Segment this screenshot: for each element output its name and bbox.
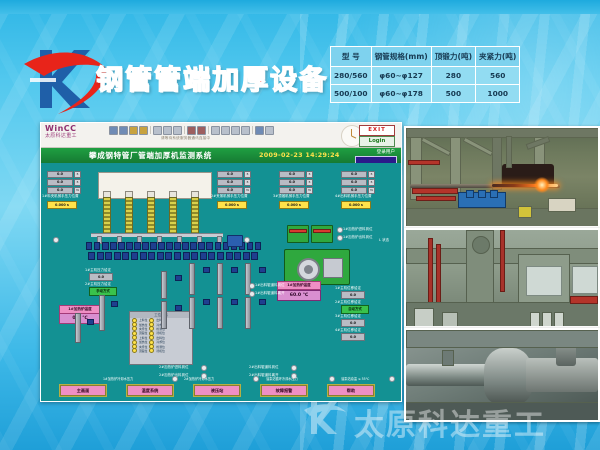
wincc-logo-subtext: 太原科达重工	[45, 133, 103, 140]
hmi-screenshot-panel: WinCC 太原科达重工 请等待系统服务器通讯连接中 EXIT	[40, 122, 402, 402]
cell-model: 280/560	[331, 67, 372, 85]
roller	[174, 252, 181, 260]
valve-indicator	[231, 267, 238, 273]
gauge-row: 0.0 B	[47, 171, 81, 178]
status-lamp	[132, 348, 137, 353]
gauge-group: 0.0 B 0.0 B 0.0 Hz	[279, 171, 313, 195]
gauge-row: 0.0 B	[341, 179, 375, 186]
manifold-block	[287, 225, 309, 243]
status-lamp	[291, 365, 297, 371]
print-icon[interactable]	[129, 126, 138, 135]
right-status-value: 0.0	[341, 333, 365, 341]
gauge-value: 0.0	[217, 171, 243, 178]
hydraulic-cylinder	[189, 297, 195, 329]
gauge-value: 0.0	[279, 171, 305, 178]
feeder-lamp	[53, 237, 59, 243]
lamp-label: 2#加热炉进料到位	[159, 364, 189, 369]
hydraulic-cylinder	[217, 297, 223, 329]
valve-indicator	[111, 301, 118, 307]
valve-indicator	[259, 267, 266, 273]
roller	[191, 252, 198, 260]
hydraulic-cylinder	[75, 313, 81, 343]
station-label: 检测位	[156, 345, 164, 349]
nav-note-lamp	[329, 376, 335, 382]
roller	[140, 252, 147, 260]
col-header-model: 型 号	[331, 47, 372, 67]
heater-column	[125, 197, 133, 237]
gauge-row: 0.0 B	[47, 179, 81, 186]
gauge-timer: 0.000 s	[47, 201, 77, 209]
nav-note-lamp	[253, 376, 259, 382]
valve-indicator	[259, 299, 266, 305]
roller	[208, 252, 215, 260]
roller	[165, 252, 172, 260]
roller	[134, 242, 140, 250]
gauge-value: 0.0	[341, 179, 367, 186]
gauge-unit: B	[368, 179, 375, 186]
nav-note: 1#加热炉冷却水压力	[103, 376, 133, 381]
station-label: 夹紧位	[139, 327, 147, 331]
roller	[200, 252, 207, 260]
cell-model: 500/100	[331, 85, 372, 103]
station-label: 冷却位	[156, 340, 164, 344]
watermark-text: 太原科达重工	[354, 400, 546, 444]
station-label: 夹紧位	[139, 345, 147, 349]
paste-icon[interactable]	[173, 126, 182, 135]
roller	[142, 242, 148, 250]
gauge-value: 0.0	[279, 179, 305, 186]
gauge-caption: 3#顶锻机械手压力位置	[273, 193, 310, 198]
nav-note-lamp	[172, 376, 178, 382]
manifold-line	[289, 229, 307, 233]
wincc-logo: WinCC 太原科达重工	[45, 124, 103, 140]
cell-pipe-size: φ60~φ127	[371, 67, 431, 85]
table-header-row: 型 号 钢管规格(mm) 顶锻力(吨) 夹紧力(吨)	[331, 47, 520, 67]
station-row: 顶锻位待机位	[130, 349, 192, 353]
station-label: 上料位	[139, 318, 147, 322]
status-label: L 状态	[379, 237, 389, 242]
roller	[217, 252, 224, 260]
roller	[110, 242, 116, 250]
hmi-user-label: 登录用户	[377, 149, 395, 155]
gauge-caption: 1#料夹机械手压力位置	[42, 193, 79, 198]
roller	[226, 252, 233, 260]
roller	[182, 242, 188, 250]
roller	[251, 252, 258, 260]
col-header-upset-force: 顶锻力(吨)	[431, 47, 475, 67]
station-label: 待机位	[156, 349, 164, 353]
valve-indicator	[175, 305, 182, 311]
roller	[105, 252, 112, 260]
wincc-logo-text: WinCC	[45, 124, 103, 133]
copy-icon[interactable]	[163, 126, 172, 135]
cell-upset-force: 280	[431, 67, 475, 85]
gauge-unit: B	[368, 171, 375, 178]
gauge-row: 0.0 B	[279, 171, 313, 178]
zoom-in-icon[interactable]	[211, 126, 220, 135]
roller	[131, 252, 138, 260]
roller	[206, 242, 212, 250]
user-icon[interactable]	[197, 126, 206, 135]
roller	[150, 242, 156, 250]
manifold-line	[313, 229, 331, 233]
table-row: 280/560 φ60~φ127 280 560	[331, 67, 520, 85]
roller	[114, 252, 121, 260]
roller	[88, 252, 95, 260]
hmi-title-bar: 攀成钢特管厂管端加厚机监测系统 2009-02-23 14:29:24 登录用户	[41, 148, 401, 163]
heater-column	[147, 197, 155, 237]
gauge-caption: 4#出料机械手压力位置	[335, 193, 372, 198]
photo-hot-pipe-rolling-line	[404, 126, 600, 228]
roller	[126, 242, 132, 250]
page-title: 钢管管端加厚设备	[96, 58, 328, 97]
nav-note-lamp	[389, 376, 395, 382]
hmi-toolbar[interactable]	[109, 125, 299, 135]
gauge-value: 0.0	[47, 179, 73, 186]
gauge-group: 0.0 B 0.0 B 0.0 Hz	[47, 171, 81, 195]
gauge-value: 0.0	[47, 171, 73, 178]
roller	[215, 242, 221, 250]
watermark-logo-icon	[302, 398, 348, 438]
manifold-block	[311, 225, 333, 243]
gauge-row: 0.0 B	[341, 171, 375, 178]
heater-column	[169, 197, 177, 237]
roller	[190, 242, 196, 250]
lamp-label: 1#加热炉进料到位	[343, 226, 373, 231]
photo-workshop-hydraulic-station	[404, 228, 600, 328]
nav-note: 油泵站油温 ≤ 55℃	[341, 376, 369, 381]
roller	[166, 242, 172, 250]
hydraulic-cylinder	[161, 301, 167, 329]
valve-indicator	[175, 275, 182, 281]
lamp-label: 1#加热炉出料到位	[343, 234, 373, 239]
valve-indicator	[203, 267, 210, 273]
gauge-row: 0.0 B	[217, 171, 251, 178]
roller	[97, 252, 104, 260]
gauge-timer: 0.000 s	[341, 201, 371, 209]
background-top-band	[0, 0, 600, 14]
layers-icon[interactable]	[241, 126, 250, 135]
station-label: 加热位	[139, 323, 147, 327]
roller-row	[88, 252, 261, 260]
left-status-label: 2#主机压力给定	[85, 281, 111, 286]
right-status-label: 3#主机位移给定	[335, 313, 361, 318]
roller	[118, 242, 124, 250]
roller	[102, 242, 108, 250]
grid-icon[interactable]	[231, 126, 240, 135]
hydraulic-cylinder	[217, 263, 223, 295]
coil-ring	[297, 258, 320, 281]
gauge-unit: B	[306, 179, 313, 186]
station-label: 顶锻位	[139, 331, 147, 335]
roller	[174, 242, 180, 250]
hmi-datetime: 2009-02-23 14:29:24	[259, 151, 340, 159]
right-status-label: 4#主机位移给定	[335, 327, 361, 332]
gauge-timer: 0.000 s	[279, 201, 309, 209]
station-label: 上料位	[139, 336, 147, 340]
toolbar-separator	[252, 126, 253, 134]
hmi-window-chrome: WinCC 太原科达重工 请等待系统服务器通讯连接中 EXIT	[41, 123, 401, 148]
valve-indicator	[203, 299, 210, 305]
cell-clamp-force: 560	[476, 67, 520, 85]
gauge-group: 0.0 B 0.0 B 0.0 Hz	[341, 171, 375, 195]
cell-upset-force: 500	[431, 85, 475, 103]
right-status-value: 0.0	[341, 319, 365, 327]
drive-lamp	[244, 237, 250, 243]
open-icon[interactable]	[109, 126, 118, 135]
station-label: 出料位	[156, 336, 164, 340]
gauge-caption: 2#夹紧机械手压力位置	[211, 193, 248, 198]
station-label: 待机位	[156, 331, 164, 335]
cut-icon[interactable]	[153, 126, 162, 135]
nav-button-main[interactable]: 主画面	[59, 384, 107, 397]
gauge-unit: B	[306, 171, 313, 178]
heater-column	[103, 197, 111, 237]
roller	[243, 252, 250, 260]
roller	[122, 252, 129, 260]
right-status-label: 2#主机位移给定	[335, 299, 361, 304]
nav-button-hydraulic[interactable]: 液压站	[193, 384, 241, 397]
left-status-value: 0.0	[89, 273, 113, 281]
toolbar-separator	[208, 126, 209, 134]
toolbar-separator	[150, 126, 151, 134]
induction-coil-unit	[284, 249, 350, 285]
heater-column	[191, 197, 199, 237]
table-row: 500/100 φ60~φ178 500 1000	[331, 85, 520, 103]
hmi-system-title: 攀成钢特管厂管端加厚机监测系统	[89, 150, 212, 161]
drive-motor	[227, 235, 243, 247]
status-lamp	[149, 348, 154, 353]
roller	[247, 242, 253, 250]
hydraulic-cylinder	[245, 297, 251, 329]
nav-note: 2#加热炉冷却水压力	[184, 376, 214, 381]
hmi-mimic-diagram: 0.0 B 0.0 B 0.0 Hz 1#料夹机械手压力位置 0.000 s 0…	[41, 163, 401, 402]
gauge-unit: B	[74, 179, 81, 186]
station-label: 加热位	[139, 340, 147, 344]
gauge-row: 0.0 B	[217, 179, 251, 186]
roller	[255, 242, 261, 250]
lamp-label: 2#出料辊道料到位	[249, 364, 279, 369]
roller	[158, 242, 164, 250]
station-label: 顶锻位	[139, 349, 147, 353]
hydraulic-cylinder	[161, 271, 167, 299]
help-icon[interactable]	[265, 126, 274, 135]
login-button[interactable]: Login	[359, 136, 395, 147]
roller	[198, 242, 204, 250]
coil-plate	[323, 258, 343, 278]
settings-icon[interactable]	[255, 126, 264, 135]
col-header-clamp-force: 夹紧力(吨)	[476, 47, 520, 67]
hydraulic-cylinder	[99, 295, 105, 331]
valve-indicator	[87, 319, 94, 325]
roller	[86, 242, 92, 250]
roller	[157, 252, 164, 260]
hmi-status-note: 请等待系统服务器通讯连接中	[161, 136, 210, 141]
gauge-value: 0.0	[217, 179, 243, 186]
gauge-unit: B	[244, 171, 251, 178]
hmi-navigation-bar: 1#加热炉冷却水压力 2#加热炉冷却水压力 油泵站循环冷却水压力 油泵站油温 ≤…	[41, 376, 401, 398]
gauge-timer: 0.000 s	[217, 201, 247, 209]
right-status-label: 1#主机位移给定	[335, 285, 361, 290]
cell-pipe-size: φ60~φ178	[371, 85, 431, 103]
gauge-value: 0.0	[341, 171, 367, 178]
left-status-label: 1#主机压力给定	[85, 267, 111, 272]
lamp-label: 1#出料辊道料离开	[255, 290, 285, 295]
preview-icon[interactable]	[139, 126, 148, 135]
alarm-icon[interactable]	[187, 126, 196, 135]
save-icon[interactable]	[119, 126, 128, 135]
roller	[148, 252, 155, 260]
gauge-unit: B	[244, 179, 251, 186]
exit-button[interactable]: EXIT	[359, 125, 395, 136]
hydraulic-cylinder	[189, 263, 195, 295]
toolbar-separator	[184, 126, 185, 134]
zoom-out-icon[interactable]	[221, 126, 230, 135]
roller	[234, 252, 241, 260]
nav-note: 油泵站循环冷却水压力	[266, 376, 298, 381]
col-header-pipe-size: 钢管规格(mm)	[371, 47, 431, 67]
nav-button-temp[interactable]: 温度系统	[126, 384, 174, 397]
roller	[94, 242, 100, 250]
specification-table: 型 号 钢管规格(mm) 顶锻力(吨) 夹紧力(吨) 280/560 φ60~φ…	[330, 46, 520, 103]
valve-indicator	[231, 299, 238, 305]
lamp-label: 1#出料辊道料到位	[255, 282, 285, 287]
status-lamp	[201, 365, 207, 371]
cell-clamp-force: 1000	[476, 85, 520, 103]
gauge-group: 0.0 B 0.0 B 0.0 Hz	[217, 171, 251, 195]
right-status-value: 0.0	[341, 291, 365, 299]
gauge-row: 0.0 B	[279, 179, 313, 186]
roller	[183, 252, 190, 260]
gauge-unit: B	[74, 171, 81, 178]
brand-watermark: 太原科达重工	[300, 396, 592, 442]
